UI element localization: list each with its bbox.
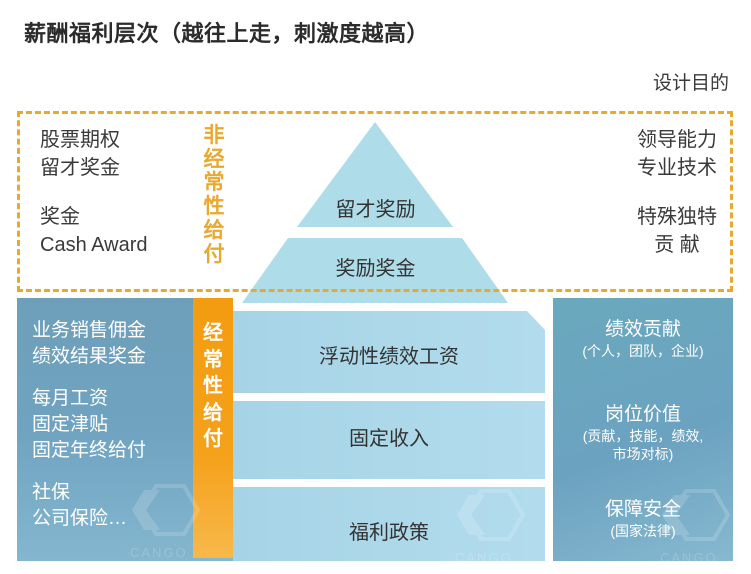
recurring-right-item-2: 岗位价值 (贡献，技能，绩效, 市场对标) [553,403,733,464]
non-recurring-char-5: 给 [196,219,232,243]
recurring-left-item-3-line2: 公司保险… [32,506,146,532]
spacer [32,370,146,386]
non-recurring-right-item-1: 领导能力 专业技术 [637,126,717,183]
non-recurring-left-item-1-line1: 股票期权 [40,126,147,154]
pyramid-tier-4-label: 固定收入 [233,422,545,451]
non-recurring-char-6: 付 [196,243,232,267]
spacer [40,183,147,203]
recurring-char-2: 常 [193,347,233,374]
non-recurring-right-item-2-line1: 特殊独特 [637,203,717,231]
pyramid-tier-3-label: 浮动性绩效工资 [233,340,545,369]
non-recurring-vertical-label: 非 经 常 性 给 付 [196,124,232,266]
non-recurring-left-item-1-line2: 留才奖金 [40,154,147,182]
recurring-right-item-1-head: 绩效贡献 [553,318,733,343]
recurring-right-item-1: 绩效贡献 (个人，团队，企业) [553,318,733,361]
recurring-right-item-1-sub: (个人，团队，企业) [553,343,733,361]
non-recurring-right-item-1-line1: 领导能力 [637,126,717,154]
recurring-orange-bar: 经 常 性 给 付 [193,298,233,558]
spacer [637,183,717,203]
recurring-char-4: 给 [193,400,233,427]
recurring-vertical-label: 经 常 性 给 付 [193,320,233,453]
recurring-left-item-1-line1: 业务销售佣金 [32,318,146,344]
recurring-left-item-1-line2: 绩效结果奖金 [32,344,146,370]
recurring-right-item-2-sub-line2: 市场对标) [553,446,733,464]
recurring-char-3: 性 [193,373,233,400]
non-recurring-left-item-1: 股票期权 留才奖金 [40,126,147,183]
recurring-left-item-2-line3: 固定年终给付 [32,438,146,464]
recurring-char-1: 经 [193,320,233,347]
non-recurring-left-item-2-line1: 奖金 [40,203,147,231]
recurring-left-item-2: 每月工资 固定津贴 固定年终给付 [32,386,146,464]
non-recurring-left-items: 股票期权 留才奖金 奖金 Cash Award [40,126,147,260]
non-recurring-right-items: 领导能力 专业技术 特殊独特 贡 献 [637,126,717,260]
non-recurring-char-4: 性 [196,195,232,219]
non-recurring-left-item-2: 奖金 Cash Award [40,203,147,260]
recurring-right-item-2-sub-line1: (贡献，技能，绩效, [553,428,733,446]
non-recurring-char-3: 常 [196,171,232,195]
non-recurring-right-item-2: 特殊独特 贡 献 [637,203,717,260]
non-recurring-right-item-2-line2: 贡 献 [637,231,717,259]
recurring-right-item-3-sub: (国家法律) [553,523,733,541]
non-recurring-left-item-2-line2: Cash Award [40,231,147,259]
recurring-right-item-3-head: 保障安全 [553,498,733,523]
recurring-left-item-1: 业务销售佣金 绩效结果奖金 [32,318,146,370]
non-recurring-right-item-1-line2: 专业技术 [637,154,717,182]
design-purpose-label: 设计目的 [653,68,729,95]
recurring-right-panel: 绩效贡献 (个人，团队，企业) 岗位价值 (贡献，技能，绩效, 市场对标) 保障… [553,298,733,561]
page-title: 薪酬福利层次（越往上走，刺激度越高） [24,16,429,48]
recurring-char-5: 付 [193,426,233,453]
watermark-text-center: CANGO [455,550,535,565]
non-recurring-char-2: 经 [196,148,232,172]
recurring-left-item-3: 社保 公司保险… [32,480,146,532]
non-recurring-char-1: 非 [196,124,232,148]
pyramid-tier-5-label: 福利政策 [233,516,545,545]
recurring-left-items: 业务销售佣金 绩效结果奖金 每月工资 固定津贴 固定年终给付 社保 公司保险… [32,318,146,532]
recurring-left-item-2-line2: 固定津贴 [32,412,146,438]
recurring-left-item-3-line1: 社保 [32,480,146,506]
recurring-left-item-2-line1: 每月工资 [32,386,146,412]
infographic-canvas: 薪酬福利层次（越往上走，刺激度越高） 设计目的 留才奖励 奖励奖金 浮动性绩效工… [0,0,751,574]
recurring-right-item-3: 保障安全 (国家法律) [553,498,733,541]
spacer [32,464,146,480]
recurring-right-item-2-head: 岗位价值 [553,403,733,428]
